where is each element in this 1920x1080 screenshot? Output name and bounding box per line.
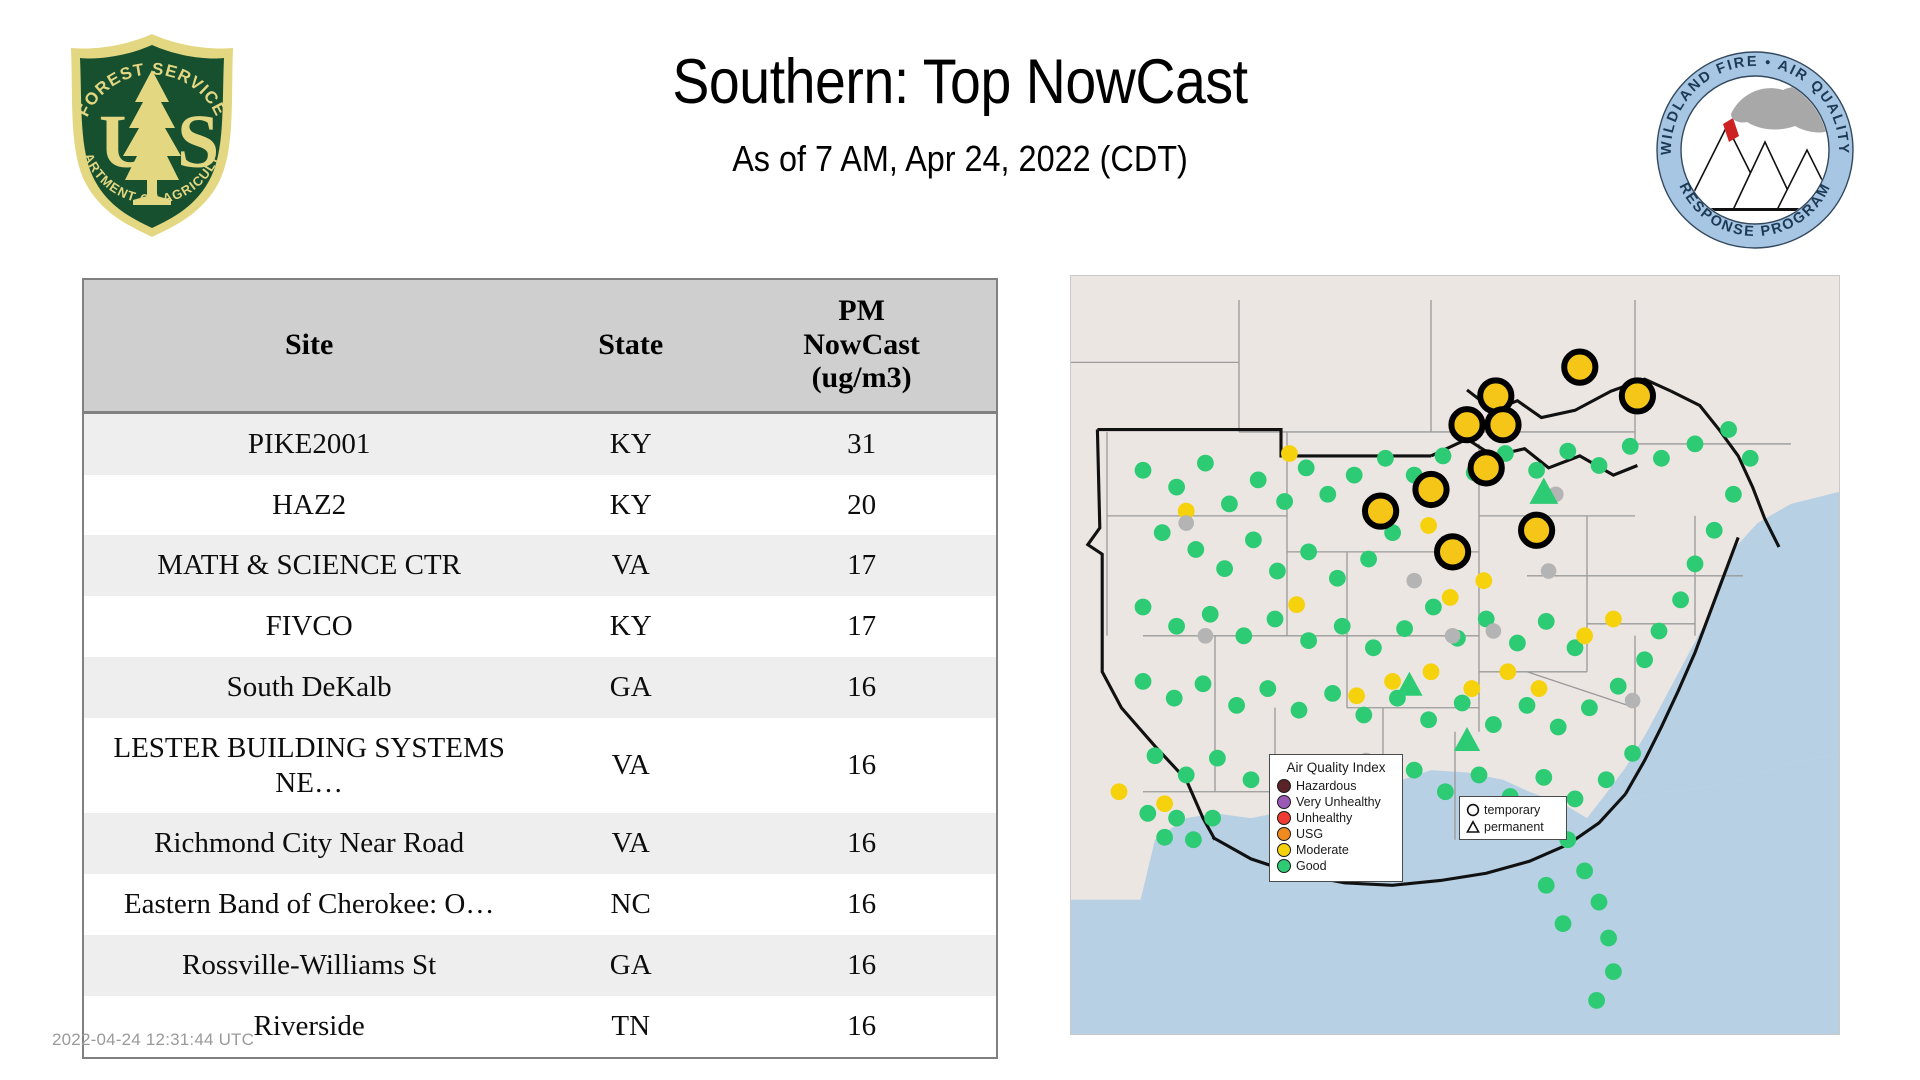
- page-header: FOREST SERVICE U S DEPARTMENT OF AGRICUL…: [0, 0, 1920, 260]
- top-site-marker: [1564, 352, 1595, 383]
- cell-value: 16: [727, 996, 996, 1057]
- monitor-type-legend: temporary permanent: [1459, 796, 1567, 840]
- title-block: Southern: Top NowCast As of 7 AM, Apr 24…: [300, 48, 1620, 180]
- cell-state: VA: [534, 535, 727, 596]
- legend-item-unhealthy: Unhealthy: [1277, 810, 1395, 826]
- top-site-marker: [1471, 452, 1502, 483]
- cell-site: Richmond City Near Road: [84, 813, 534, 874]
- legend-item-temporary: temporary: [1466, 801, 1560, 818]
- cell-value: 16: [727, 718, 996, 814]
- cell-state: TN: [534, 996, 727, 1057]
- table-row: MATH & SCIENCE CTR VA 17: [84, 535, 996, 596]
- legend-label: Hazardous: [1296, 779, 1356, 793]
- legend-label: Unhealthy: [1296, 811, 1352, 825]
- cell-state: KY: [534, 475, 727, 536]
- column-header-site: Site: [84, 280, 534, 412]
- triangle-icon: [1466, 820, 1480, 834]
- cell-value: 16: [727, 657, 996, 718]
- table-body: PIKE2001 KY 31 HAZ2 KY 20 MATH & SCIENCE…: [84, 412, 996, 1056]
- very-unhealthy-swatch-icon: [1277, 795, 1291, 809]
- cell-state: NC: [534, 874, 727, 935]
- table-row: FIVCO KY 17: [84, 596, 996, 657]
- table-header-row: Site State PM NowCast (ug/m3): [84, 280, 996, 412]
- top-site-marker: [1415, 474, 1446, 505]
- cell-value: 31: [727, 412, 996, 474]
- top-site-marker: [1622, 380, 1653, 411]
- legend-item-very-unhealthy: Very Unhealthy: [1277, 794, 1395, 810]
- table-row: South DeKalb GA 16: [84, 657, 996, 718]
- legend-item-hazardous: Hazardous: [1277, 778, 1395, 794]
- cell-site: FIVCO: [84, 596, 534, 657]
- cell-state: KY: [534, 412, 727, 474]
- legend-title: Air Quality Index: [1277, 760, 1395, 775]
- legend-label: Moderate: [1296, 843, 1349, 857]
- top-site-marker: [1451, 409, 1482, 440]
- legend-item-permanent: permanent: [1466, 818, 1560, 835]
- table-row: Richmond City Near Road VA 16: [84, 813, 996, 874]
- table-row: Rossville-Williams St GA 16: [84, 935, 996, 996]
- cell-value: 16: [727, 874, 996, 935]
- table-row: Eastern Band of Cherokee: O… NC 16: [84, 874, 996, 935]
- cell-state: KY: [534, 596, 727, 657]
- column-header-line-2: NowCast: [803, 328, 920, 361]
- cell-value: 16: [727, 813, 996, 874]
- table-row: LESTER BUILDING SYSTEMS NE… VA 16: [84, 718, 996, 814]
- cell-site: PIKE2001: [84, 412, 534, 474]
- cell-value: 16: [727, 935, 996, 996]
- legend-label: Very Unhealthy: [1296, 795, 1381, 809]
- cell-site: LESTER BUILDING SYSTEMS NE…: [84, 718, 534, 814]
- top-site-marker: [1365, 495, 1396, 526]
- us-forest-service-shield-logo: FOREST SERVICE U S DEPARTMENT OF AGRICUL…: [55, 30, 250, 240]
- generation-timestamp: 2022-04-24 12:31:44 UTC: [52, 1030, 254, 1050]
- legend-item-good: Good: [1277, 858, 1395, 874]
- cell-site: HAZ2: [84, 475, 534, 536]
- legend-label: permanent: [1484, 820, 1544, 834]
- column-header-state: State: [534, 280, 727, 412]
- table-row: HAZ2 KY 20: [84, 475, 996, 536]
- column-header-line-3: (ug/m3): [812, 361, 912, 394]
- page-title: Southern: Top NowCast: [379, 48, 1541, 116]
- hazardous-swatch-icon: [1277, 779, 1291, 793]
- top-site-marker: [1487, 409, 1518, 440]
- cell-value: 17: [727, 596, 996, 657]
- air-quality-index-legend: Air Quality Index Hazardous Very Unhealt…: [1269, 754, 1403, 882]
- column-header-line-1: PM: [838, 294, 885, 327]
- legend-label: Good: [1296, 859, 1327, 873]
- cell-state: VA: [534, 718, 727, 814]
- unhealthy-swatch-icon: [1277, 811, 1291, 825]
- table-row: PIKE2001 KY 31: [84, 412, 996, 474]
- top-nowcast-table: Site State PM NowCast (ug/m3) PIKE2001 K…: [84, 280, 996, 1057]
- cell-site: Eastern Band of Cherokee: O…: [84, 874, 534, 935]
- top-site-marker: [1437, 536, 1468, 567]
- circle-icon: [1466, 803, 1480, 817]
- cell-state: GA: [534, 935, 727, 996]
- wfaqrp-seal-logo: WILDLAND FIRE • AIR QUALITY RESPONSE PRO…: [1655, 50, 1855, 245]
- good-swatch-icon: [1277, 859, 1291, 873]
- legend-label: temporary: [1484, 803, 1540, 817]
- legend-item-usg: USG: [1277, 826, 1395, 842]
- usg-swatch-icon: [1277, 827, 1291, 841]
- column-header-pm-nowcast: PM NowCast (ug/m3): [727, 280, 996, 412]
- cell-value: 17: [727, 535, 996, 596]
- page-subtitle: As of 7 AM, Apr 24, 2022 (CDT): [366, 138, 1554, 180]
- legend-item-moderate: Moderate: [1277, 842, 1395, 858]
- cell-state: VA: [534, 813, 727, 874]
- cell-value: 20: [727, 475, 996, 536]
- cell-site: South DeKalb: [84, 657, 534, 718]
- map-canvas: [1071, 276, 1839, 1034]
- top-site-marker: [1521, 515, 1552, 546]
- cell-site: MATH & SCIENCE CTR: [84, 535, 534, 596]
- legend-label: USG: [1296, 827, 1323, 841]
- top-nowcast-table-container: Site State PM NowCast (ug/m3) PIKE2001 K…: [82, 278, 998, 1059]
- moderate-swatch-icon: [1277, 843, 1291, 857]
- air-quality-monitor-map[interactable]: Air Quality Index Hazardous Very Unhealt…: [1070, 275, 1840, 1035]
- cell-state: GA: [534, 657, 727, 718]
- cell-site: Rossville-Williams St: [84, 935, 534, 996]
